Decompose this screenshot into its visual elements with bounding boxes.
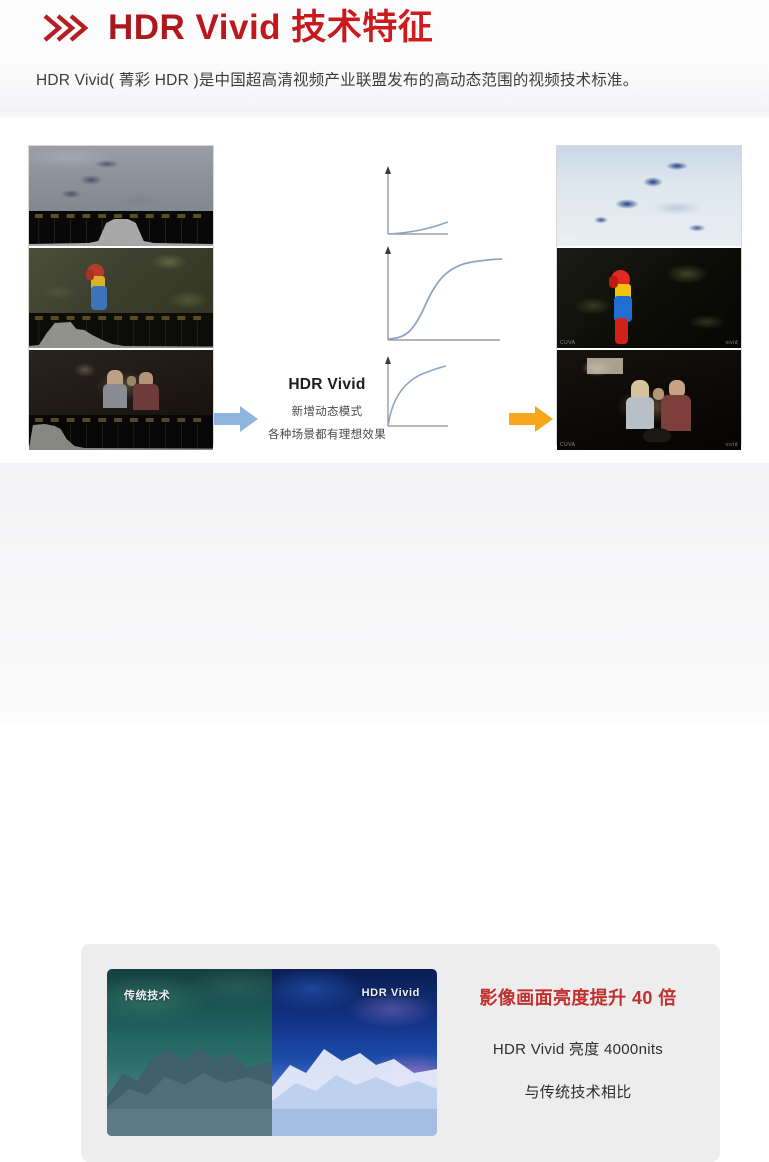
watermark-right: vivid <box>725 442 738 448</box>
after-image-snow: CUVA <box>557 146 741 246</box>
before-image-parrot <box>29 248 213 313</box>
center-line-2: 各种场景都有理想效果 <box>262 426 392 442</box>
brightness-headline: 影像画面亮度提升 40 倍 <box>453 984 703 1010</box>
comparison-half-traditional: 传统技术 <box>107 969 272 1136</box>
histogram-1 <box>29 211 213 246</box>
watermark-left: CUVA <box>560 238 576 244</box>
before-item-3 <box>29 350 213 450</box>
before-image-snow <box>29 146 213 211</box>
watermark-left: CUVA <box>560 442 576 448</box>
triple-chevron-icon <box>42 11 96 45</box>
brightness-text-block: 影像画面亮度提升 40 倍 HDR Vivid 亮度 4000nits 与传统技… <box>453 984 703 1102</box>
before-item-1 <box>29 146 213 248</box>
watermark-right: vivid <box>725 340 738 346</box>
histogram-2 <box>29 313 213 348</box>
diagram-section: HDR Vivid 新增动态模式 各种场景都有理想效果 <box>0 118 769 463</box>
brightness-comparison-image: 传统技术 HDR Vivid <box>107 969 437 1136</box>
comparison-half-hdr-vivid: HDR Vivid <box>272 969 437 1136</box>
header-divider <box>0 108 769 118</box>
center-caption-block: HDR Vivid 新增动态模式 各种场景都有理想效果 <box>262 376 392 442</box>
page-subtitle: HDR Vivid( 菁彩 HDR )是中国超高清视频产业联盟发布的高动态范围的… <box>36 68 638 90</box>
after-item-1: CUVA <box>557 146 741 248</box>
title-row: HDR Vivid 技术特征 <box>42 6 433 50</box>
before-item-2 <box>29 248 213 350</box>
orange-right-arrow <box>509 406 553 432</box>
curve-dynamic-s <box>378 244 506 349</box>
center-line-1: 新增动态模式 <box>262 403 392 419</box>
brightness-line-1: HDR Vivid 亮度 4000nits <box>453 1038 703 1059</box>
tone-mapping-curves <box>378 164 506 434</box>
after-images-panel: CUVA CUVA vivid <box>556 145 742 445</box>
bottom-section: 传统技术 HDR Vivid 影像画面亮度提升 40 倍 HDR Vivid 亮 <box>0 463 769 721</box>
page-title: HDR Vivid 技术特征 <box>108 6 433 50</box>
after-image-candlelight: CUVA vivid <box>557 350 741 450</box>
after-image-parrot: CUVA vivid <box>557 248 741 348</box>
page-header: HDR Vivid 技术特征 HDR Vivid( 菁彩 HDR )是中国超高清… <box>0 0 769 112</box>
after-item-3: CUVA vivid <box>557 350 741 450</box>
curve-shadow-lift <box>378 356 506 436</box>
watermark-left: CUVA <box>560 340 576 346</box>
brightness-line-2: 与传统技术相比 <box>453 1081 703 1102</box>
brightness-card: 传统技术 HDR Vivid 影像画面亮度提升 40 倍 HDR Vivid 亮 <box>81 944 720 1162</box>
comparison-label-right: HDR Vivid <box>362 987 420 999</box>
histogram-3 <box>29 415 213 450</box>
center-title: HDR Vivid <box>262 376 392 394</box>
comparison-label-left: 传统技术 <box>124 987 170 1003</box>
after-item-2: CUVA vivid <box>557 248 741 350</box>
curve-shallow-gain <box>378 164 506 242</box>
before-images-panel <box>28 145 214 445</box>
page-root: HDR Vivid 技术特征 HDR Vivid( 菁彩 HDR )是中国超高清… <box>0 0 769 721</box>
before-image-candlelight <box>29 350 213 415</box>
blue-right-arrow <box>214 406 258 432</box>
